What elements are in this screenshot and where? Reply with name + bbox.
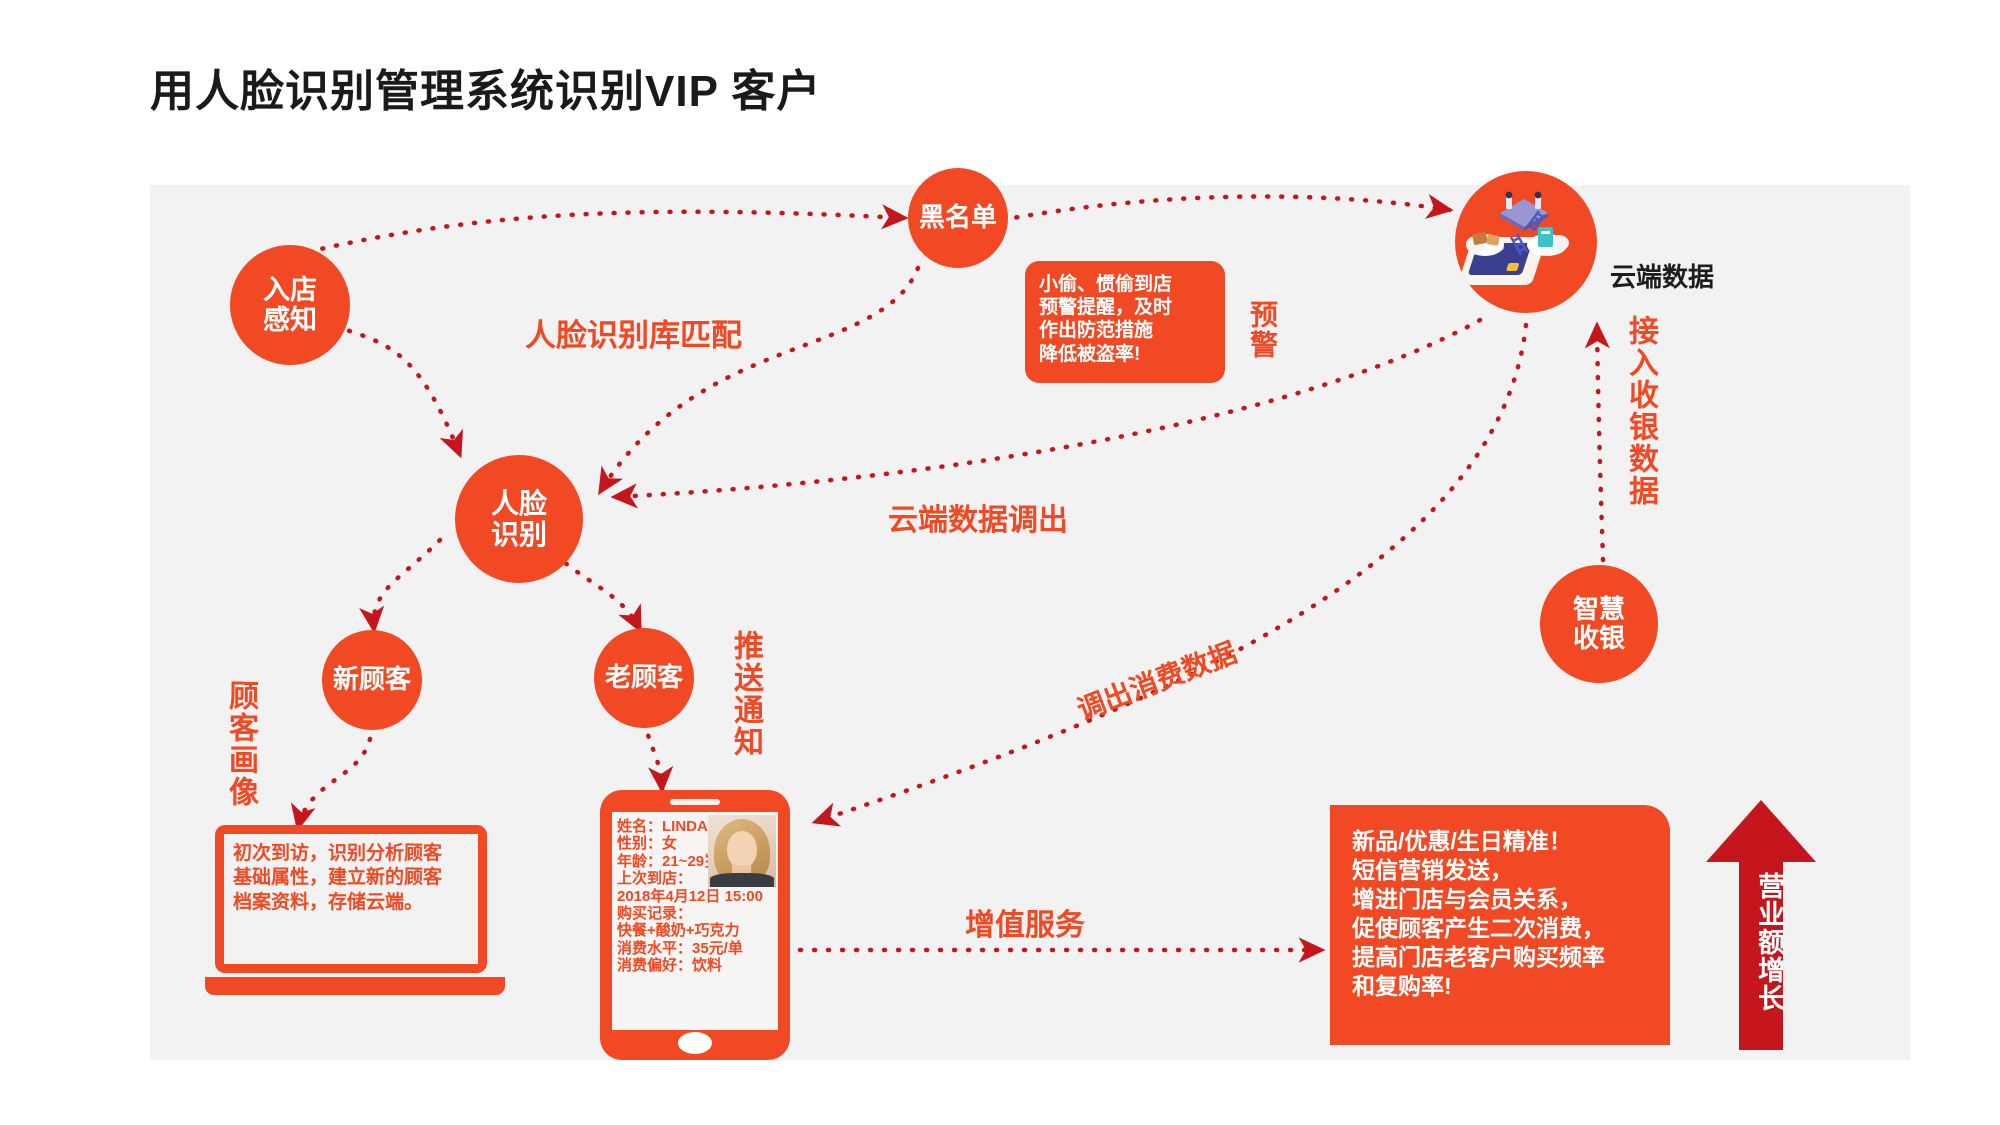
- photo-face: [727, 831, 757, 869]
- node-face-line1: 人脸: [491, 488, 547, 519]
- phone-line-5: 2018年4月12日 15:00: [617, 888, 773, 905]
- phone-line-6: 购买记录：: [617, 905, 773, 922]
- node-cloud-data[interactable]: [1455, 171, 1597, 313]
- label-push-notification: 推送通知: [730, 630, 760, 758]
- laptop-base: [205, 977, 505, 995]
- photo-shoulder: [710, 873, 774, 887]
- label-face-db-match: 人脸识别库匹配: [525, 310, 742, 355]
- label-customer-portrait: 顾客画像: [225, 680, 255, 808]
- node-new-customer-label: 新顾客: [333, 665, 411, 694]
- laptop-illustration: 初次到访，识别分析顾客 基础属性，建立新的顾客 档案资料，存储云端。: [205, 825, 505, 1005]
- growth-arrow-head: [1706, 800, 1816, 862]
- phone-line-9: 消费偏好：饮料: [617, 957, 773, 974]
- warning-line-2: 预警提醒，及时: [1039, 296, 1211, 319]
- label-cloud-data-fetch: 云端数据调出: [888, 495, 1068, 539]
- label-early-warning: 预警: [1248, 300, 1276, 360]
- warning-line-4: 降低被盗率!: [1039, 343, 1211, 366]
- node-smart-cashier[interactable]: 智慧 收银: [1540, 565, 1658, 683]
- phone-line-7: 快餐+酸奶+巧克力: [617, 922, 773, 939]
- marketing-box: 新品/优惠/生日精准！ 短信营销发送， 增进门店与会员关系， 促使顾客产生二次消…: [1330, 805, 1670, 1045]
- phone-home-button[interactable]: [678, 1032, 712, 1054]
- phone-line-8: 消费水平：35元/单: [617, 940, 773, 957]
- phone-illustration: 姓名：LINDA 性别：女 年龄：21~29岁 上次到店： 2018年4月12日…: [600, 790, 790, 1060]
- warning-line-1: 小偷、惯偷到店: [1039, 273, 1211, 296]
- node-face-line2: 识别: [491, 519, 547, 550]
- marketing-line-2: 短信营销发送，: [1352, 856, 1648, 885]
- node-old-customer[interactable]: 老顾客: [594, 628, 694, 728]
- laptop-line-2: 基础属性，建立新的顾客: [233, 866, 469, 890]
- node-old-customer-label: 老顾客: [605, 663, 683, 692]
- growth-arrow-label: 营业额增长: [1742, 872, 1782, 1012]
- node-entry-line1: 入店: [263, 275, 317, 305]
- phone-speaker: [670, 799, 720, 805]
- marketing-line-4: 促使顾客产生二次消费，: [1352, 914, 1648, 943]
- node-entry-sensing[interactable]: 入店 感知: [230, 245, 350, 365]
- laptop-screen: 初次到访，识别分析顾客 基础属性，建立新的顾客 档案资料，存储云端。: [215, 825, 487, 973]
- phone-screen: 姓名：LINDA 性别：女 年龄：21~29岁 上次到店： 2018年4月12日…: [612, 812, 778, 1030]
- cloud-data-label: 云端数据: [1610, 257, 1714, 294]
- laptop-screen-text: 初次到访，识别分析顾客 基础属性，建立新的顾客 档案资料，存储云端。: [224, 834, 478, 964]
- marketing-line-3: 增进门店与会员关系，: [1352, 885, 1648, 914]
- laptop-line-3: 档案资料，存储云端。: [233, 891, 469, 915]
- cloud-data-icon: [1455, 171, 1597, 313]
- node-blacklist-label: 黑名单: [919, 203, 997, 232]
- customer-photo: [708, 815, 776, 887]
- warning-box: 小偷、惯偷到店 预警提醒，及时 作出防范措施 降低被盗率!: [1025, 261, 1225, 383]
- label-access-cashier-data: 接入收银数据: [1625, 315, 1655, 507]
- slide-root: 用人脸识别管理系统识别VIP 客户: [0, 0, 2000, 1125]
- marketing-line-1: 新品/优惠/生日精准！: [1352, 827, 1648, 856]
- node-cashier-line2: 收银: [1573, 624, 1625, 653]
- node-cashier-line1: 智慧: [1573, 595, 1625, 624]
- node-face-recognition[interactable]: 人脸 识别: [455, 455, 583, 583]
- laptop-line-1: 初次到访，识别分析顾客: [233, 842, 469, 866]
- warning-line-3: 作出防范措施: [1039, 319, 1211, 342]
- marketing-line-6: 和复购率!: [1352, 972, 1648, 1001]
- marketing-line-5: 提高门店老客户购买频率: [1352, 943, 1648, 972]
- node-new-customer[interactable]: 新顾客: [322, 630, 422, 730]
- node-blacklist[interactable]: 黑名单: [908, 168, 1008, 268]
- page-title: 用人脸识别管理系统识别VIP 客户: [150, 55, 821, 119]
- node-entry-line2: 感知: [263, 305, 317, 335]
- growth-arrow-up-icon: 营业额增长: [1706, 800, 1816, 1050]
- label-value-added-service: 增值服务: [965, 900, 1085, 944]
